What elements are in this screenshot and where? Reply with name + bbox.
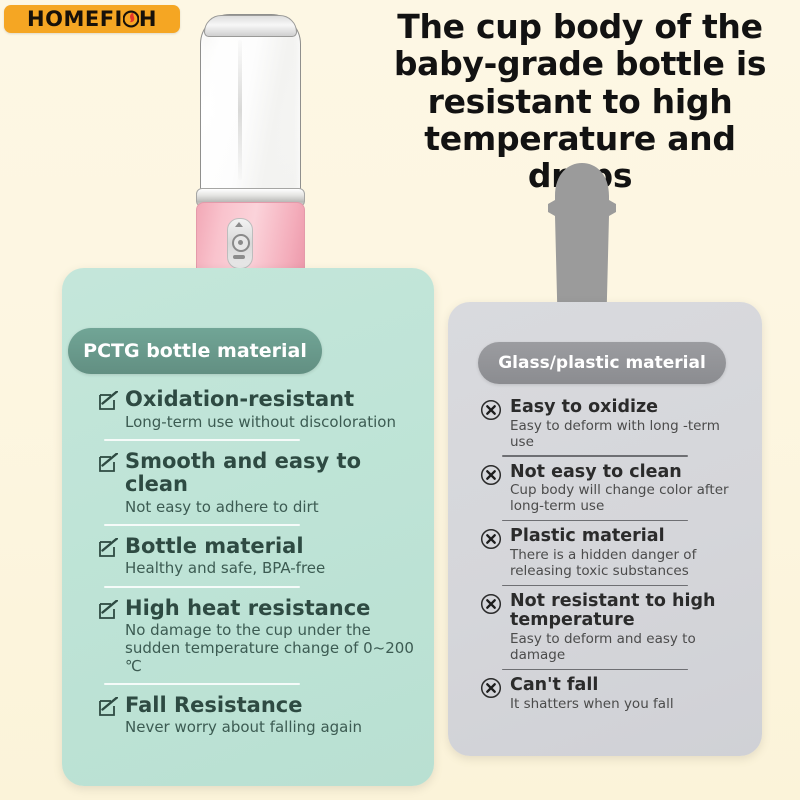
check-box-icon [98, 600, 118, 620]
list-item-title: Not resistant to high temperature [510, 592, 742, 631]
list-item-desc: Easy to deform and easy to damage [510, 632, 742, 664]
list-item-title: Oxidation-resistant [125, 388, 418, 412]
pctg-benefits-list: Oxidation-resistant Long-term use withou… [98, 388, 418, 743]
list-item-title: High heat resistance [125, 597, 418, 621]
divider [502, 455, 688, 456]
brand-logo: HOMEFI H [4, 5, 180, 33]
list-item-title: Bottle material [125, 535, 418, 559]
flame-icon [123, 9, 139, 29]
list-item: Oxidation-resistant Long-term use withou… [98, 388, 418, 431]
list-item-body: Can't fall It shatters when you fall [510, 676, 742, 713]
list-item-desc: Never worry about falling again [125, 719, 418, 737]
list-item-title: Easy to oxidize [510, 398, 742, 418]
circle-x-icon [480, 677, 502, 699]
list-item-desc: Easy to deform with long -term use [510, 419, 742, 451]
headline-line-2: baby-grade bottle is [368, 45, 792, 82]
glass-drawbacks-list: Easy to oxidize Easy to deform with long… [480, 398, 742, 717]
circle-x-icon [480, 528, 502, 550]
divider [502, 669, 688, 670]
divider [104, 439, 300, 441]
list-item-desc: Cup body will change color after long-te… [510, 483, 742, 515]
list-item-title: Not easy to clean [510, 463, 742, 483]
triangle-up-icon [235, 222, 243, 227]
list-item-desc: It shatters when you fall [510, 697, 742, 713]
divider [502, 520, 688, 521]
list-item-title: Smooth and easy to clean [125, 450, 418, 497]
blender-cup [200, 14, 301, 196]
product-image-blender [186, 6, 312, 306]
list-item-body: Oxidation-resistant Long-term use withou… [125, 388, 418, 431]
glass-plastic-drawbacks-panel: Glass/plastic material Easy to oxidize E… [448, 302, 762, 756]
brand-logo-text: HOMEFI H [27, 9, 157, 30]
check-box-icon [98, 391, 118, 411]
list-item-body: High heat resistance No damage to the cu… [125, 597, 418, 676]
brand-logo-text-before: HOMEFI [27, 9, 123, 30]
divider [104, 586, 300, 588]
circle-x-icon [480, 464, 502, 486]
check-box-icon [98, 697, 118, 717]
list-item: Smooth and easy to clean Not easy to adh… [98, 450, 418, 517]
infographic-page: HOMEFI H The cup body of the baby-grade … [0, 0, 800, 800]
pctg-panel-header-badge: PCTG bottle material [68, 328, 322, 374]
list-item: Plastic material There is a hidden dange… [480, 527, 742, 579]
list-item-desc: There is a hidden danger of releasing to… [510, 548, 742, 580]
list-item: Bottle material Healthy and safe, BPA-fr… [98, 535, 418, 578]
blender-lid [204, 15, 297, 37]
list-item-body: Bottle material Healthy and safe, BPA-fr… [125, 535, 418, 578]
brand-logo-text-after: H [139, 9, 157, 30]
divider [502, 585, 688, 586]
pctg-panel-header-label: PCTG bottle material [83, 340, 307, 362]
list-item-title: Fall Resistance [125, 694, 418, 718]
divider [104, 683, 300, 685]
list-item: Can't fall It shatters when you fall [480, 676, 742, 713]
circle-x-icon [480, 593, 502, 615]
glass-panel-header-badge: Glass/plastic material [478, 342, 726, 384]
indicator-bar-icon [233, 255, 245, 259]
check-box-icon [98, 453, 118, 473]
list-item-title: Plastic material [510, 527, 742, 547]
circle-x-icon [480, 399, 502, 421]
list-item-desc: No damage to the cup under the sudden te… [125, 622, 418, 675]
list-item-body: Not resistant to high temperature Easy t… [510, 592, 742, 664]
headline-line-1: The cup body of the [368, 8, 792, 45]
list-item-body: Not easy to clean Cup body will change c… [510, 463, 742, 515]
headline-line-3: resistant to high [368, 83, 792, 120]
cup-highlight [238, 40, 242, 180]
list-item: High heat resistance No damage to the cu… [98, 597, 418, 676]
list-item-body: Smooth and easy to clean Not easy to adh… [125, 450, 418, 517]
check-box-icon [98, 538, 118, 558]
list-item-title: Can't fall [510, 676, 742, 696]
list-item: Not easy to clean Cup body will change c… [480, 463, 742, 515]
list-item: Not resistant to high temperature Easy t… [480, 592, 742, 664]
list-item-body: Fall Resistance Never worry about fallin… [125, 694, 418, 737]
power-button-icon [232, 234, 250, 252]
list-item-desc: Not easy to adhere to dirt [125, 499, 418, 517]
list-item: Fall Resistance Never worry about fallin… [98, 694, 418, 737]
list-item-body: Easy to oxidize Easy to deform with long… [510, 398, 742, 450]
divider [104, 524, 300, 526]
list-item-desc: Long-term use without discoloration [125, 414, 418, 432]
glass-panel-header-label: Glass/plastic material [498, 353, 706, 373]
list-item: Easy to oxidize Easy to deform with long… [480, 398, 742, 450]
list-item-desc: Healthy and safe, BPA-free [125, 560, 418, 578]
list-item-body: Plastic material There is a hidden dange… [510, 527, 742, 579]
